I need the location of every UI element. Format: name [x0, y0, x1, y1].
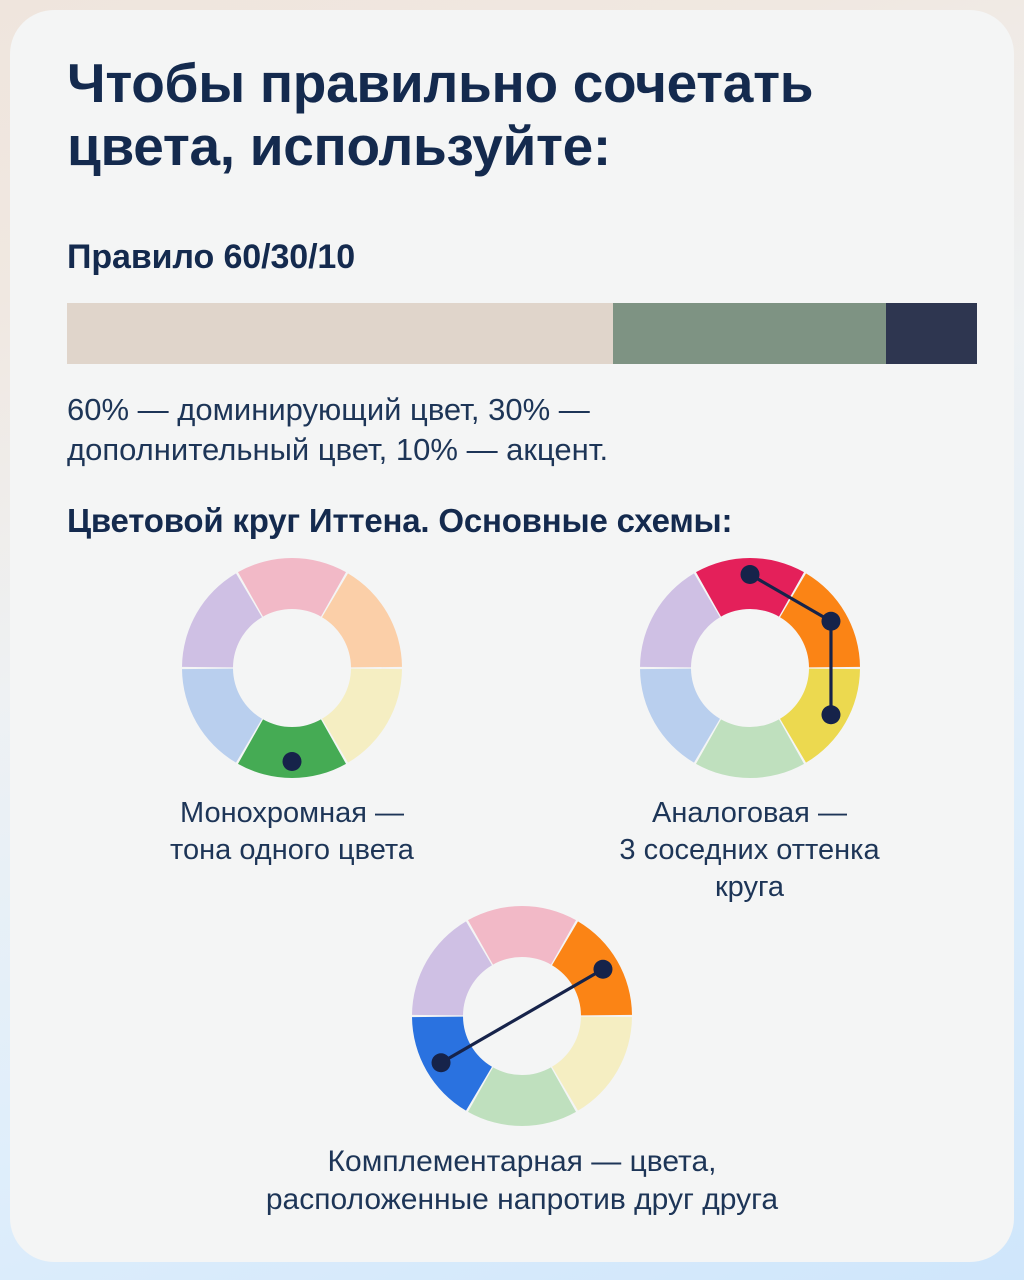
ratio-segment-accent: [886, 303, 977, 364]
wheel-marker-top: [740, 565, 759, 584]
wheel-marker-lower-left: [432, 1053, 451, 1072]
caption-line-1: Аналоговая —: [522, 795, 977, 832]
color-wheel-analogous: [522, 555, 977, 781]
rule-title: Правило 60/30/10: [67, 238, 355, 277]
color-wheel-complementary-svg: [409, 903, 635, 1129]
ratio-bar: [67, 303, 977, 364]
caption-line-1: Монохромная —: [67, 795, 517, 832]
caption-line-2: 3 соседних оттенка: [522, 832, 977, 869]
caption-line-2: тона одного цвета: [67, 832, 517, 869]
color-wheel-complementary: [187, 903, 857, 1129]
scheme-analogous: Аналоговая — 3 соседних оттенка круга: [522, 555, 977, 906]
ratio-segment-secondary: [613, 303, 886, 364]
scheme-monochrome-caption: Монохромная — тона одного цвета: [67, 795, 517, 869]
wheel-marker-upper-right: [593, 960, 612, 979]
rule-description: 60% — доминирующий цвет, 30% — дополните…: [67, 390, 797, 470]
color-wheel-monochrome: [67, 555, 517, 781]
page-title-line-2: цвета, используйте:: [67, 115, 967, 178]
color-wheel-monochrome-svg: [179, 555, 405, 781]
scheme-complementary: Комплементарная — цвета, расположенные н…: [187, 903, 857, 1219]
scheme-analogous-caption: Аналоговая — 3 соседних оттенка круга: [522, 795, 977, 906]
scheme-monochrome: Монохромная — тона одного цвета: [67, 555, 517, 869]
wheel-marker-bottom: [283, 752, 302, 771]
infographic-card: Чтобы правильно сочетать цвета, использу…: [10, 10, 1014, 1262]
scheme-complementary-caption: Комплементарная — цвета, расположенные н…: [187, 1143, 857, 1219]
wheel-section-title: Цветовой круг Иттена. Основные схемы:: [67, 502, 732, 540]
wheel-marker-lower-right: [821, 705, 840, 724]
rule-description-line-2: дополнительный цвет, 10% — акцент.: [67, 430, 797, 470]
caption-line-2: расположенные напротив друг друга: [187, 1181, 857, 1219]
rule-description-line-1: 60% — доминирующий цвет, 30% —: [67, 390, 797, 430]
card-content: Чтобы правильно сочетать цвета, использу…: [67, 10, 977, 1262]
color-wheel-analogous-svg: [637, 555, 863, 781]
page-title-line-1: Чтобы правильно сочетать: [67, 52, 967, 115]
wheel-marker-upper-right: [821, 612, 840, 631]
caption-line-1: Комплементарная — цвета,: [187, 1143, 857, 1181]
ratio-segment-dominant: [67, 303, 613, 364]
page-title: Чтобы правильно сочетать цвета, использу…: [67, 52, 967, 178]
caption-line-3: круга: [522, 869, 977, 906]
